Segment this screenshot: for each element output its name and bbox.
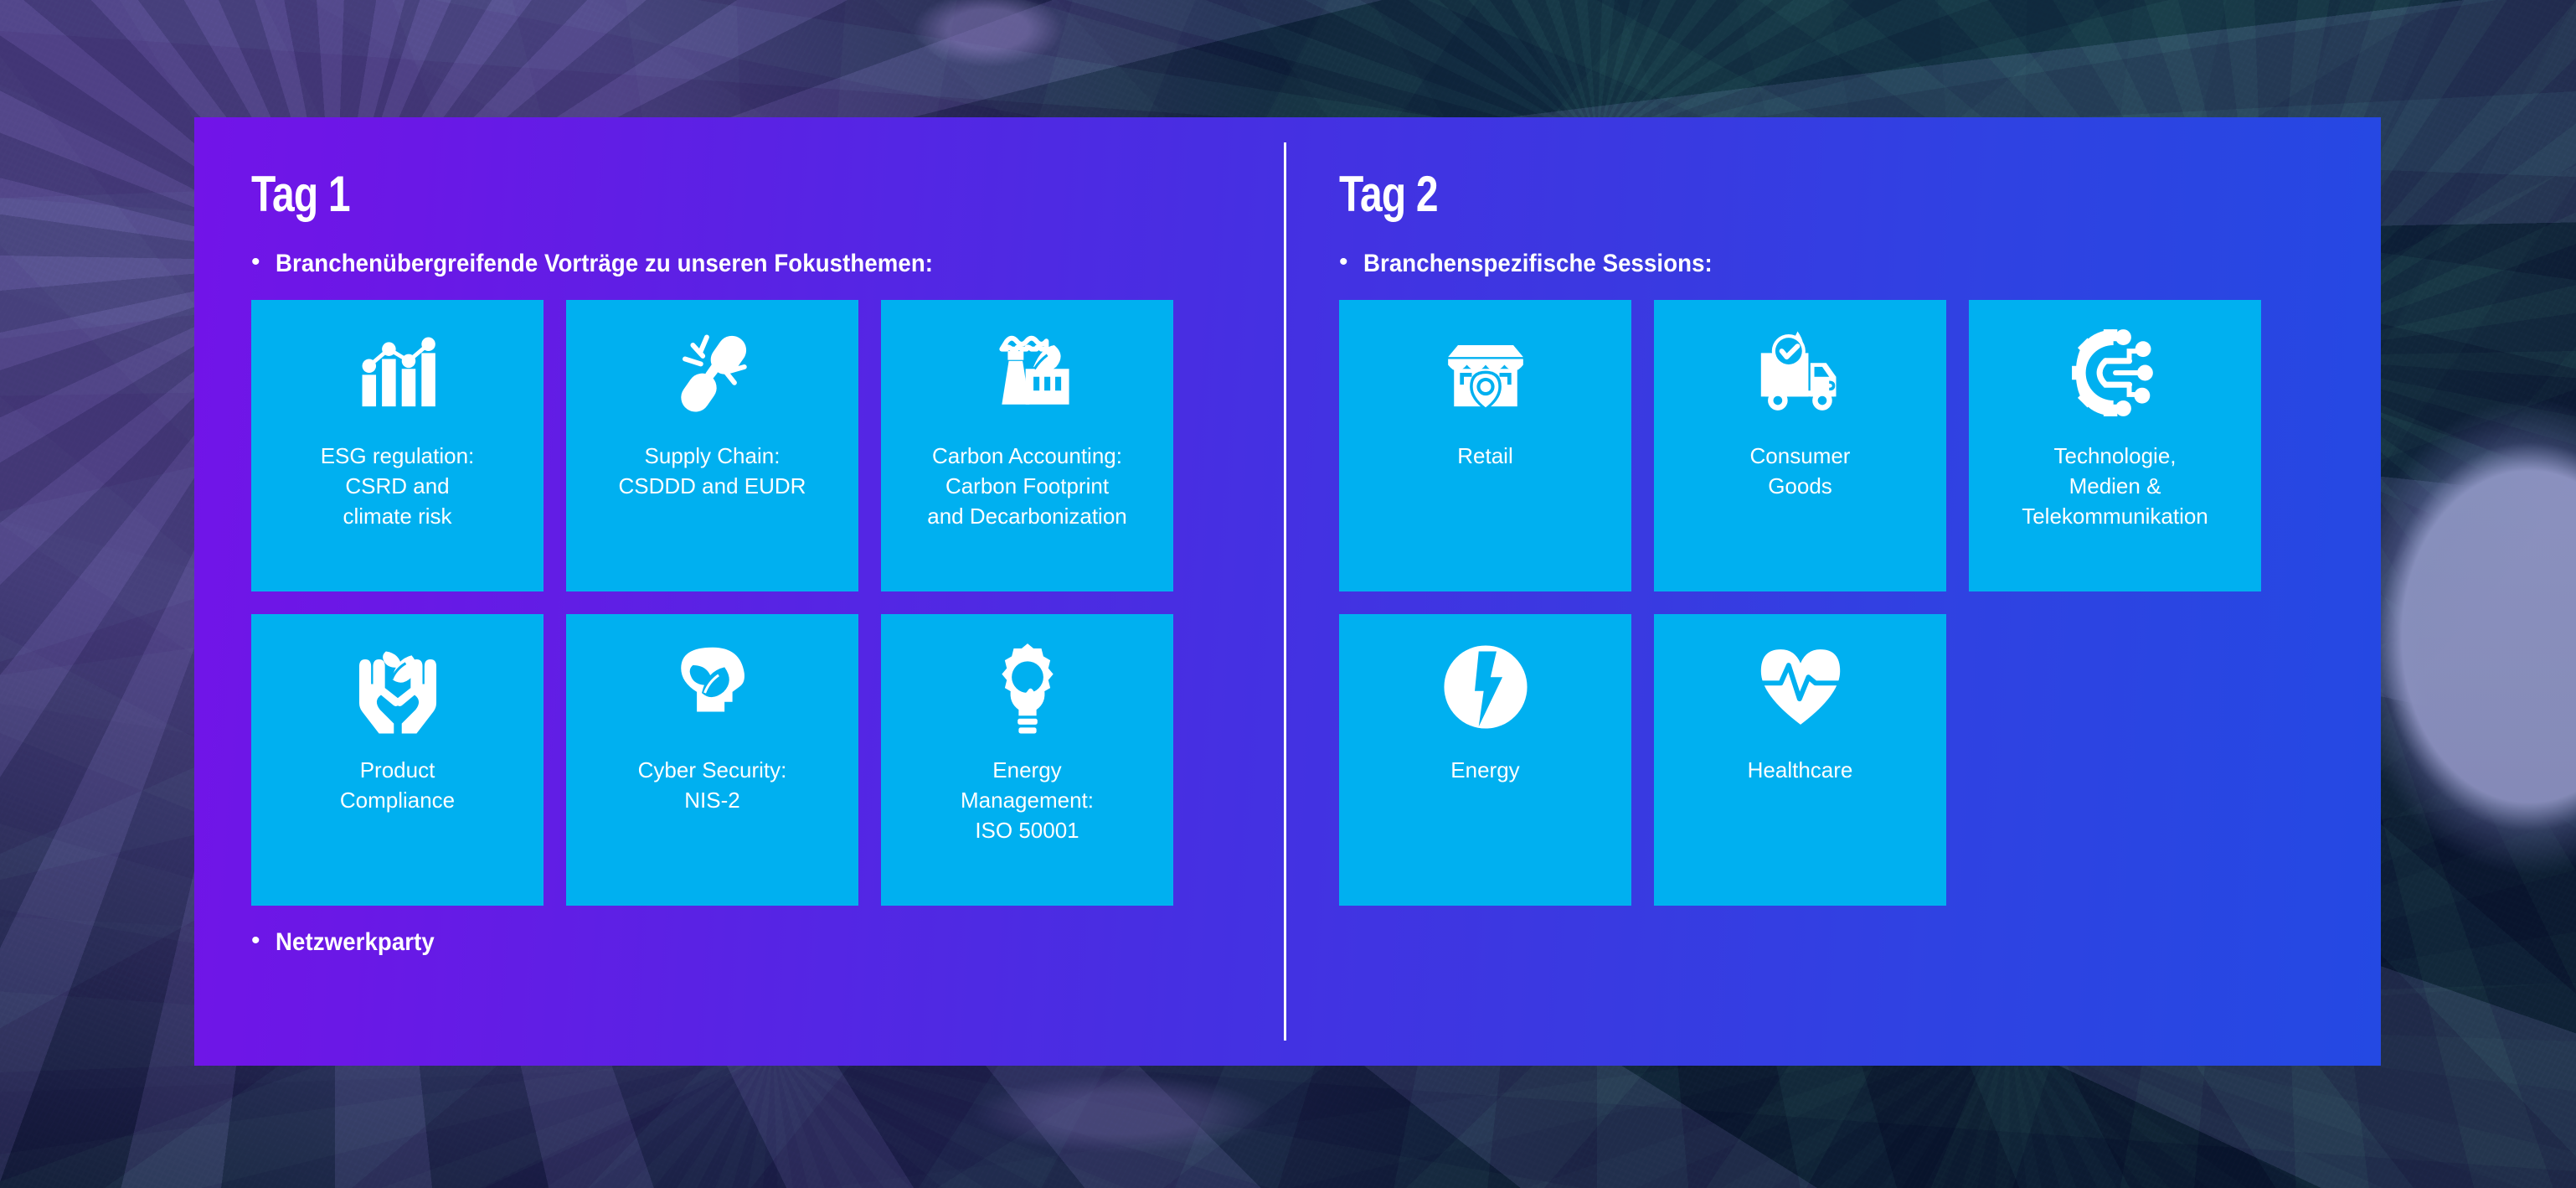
- bullet-dot-icon: •: [251, 928, 260, 953]
- storefront-location-pin-icon: [1436, 323, 1535, 422]
- tile-label: Cyber Security: NIS-2: [630, 755, 796, 815]
- tile-carbon-accounting[interactable]: Carbon Accounting: Carbon Footprint and …: [881, 300, 1173, 591]
- day1-intro-bullet: • Branchenübergreifende Vorträge zu unse…: [251, 250, 1284, 278]
- tile-technologie-medien-telekommunikation[interactable]: Technologie, Medien & Telekommunikation: [1969, 300, 2261, 591]
- tile-supply-chain[interactable]: Supply Chain: CSDDD and EUDR: [566, 300, 858, 591]
- day1-tile-row-1: ESG regulation: CSRD and climate risk: [251, 300, 1284, 591]
- factory-leaf-icon: [978, 323, 1077, 422]
- tile-label: Consumer Goods: [1742, 441, 1859, 501]
- broken-chain-link-icon: [663, 323, 762, 422]
- tile-energy-management[interactable]: Energy Management: ISO 50001: [881, 614, 1173, 906]
- day2-column: Tag 2 • Branchenspezifische Sessions:: [1284, 117, 2381, 1066]
- tile-label: Product Compliance: [332, 755, 463, 815]
- day2-intro-bullet-text: Branchenspezifische Sessions:: [1363, 250, 1713, 278]
- tile-label: Supply Chain: CSDDD and EUDR: [611, 441, 815, 501]
- tile-product-compliance[interactable]: Product Compliance: [251, 614, 544, 906]
- tile-consumer-goods[interactable]: Consumer Goods: [1654, 300, 1946, 591]
- day1-closing-bullet-text: Netzwerkparty: [276, 928, 435, 957]
- tile-healthcare[interactable]: Healthcare: [1654, 614, 1946, 906]
- day1-tile-row-2: Product Compliance Cyber Security: NIS-2: [251, 614, 1284, 906]
- bullet-dot-icon: •: [1339, 250, 1348, 275]
- day2-title: Tag 2: [1339, 169, 2172, 220]
- tile-label: Healthcare: [1739, 755, 1862, 785]
- day2-tile-row-1: Retail: [1339, 300, 2381, 591]
- day1-title: Tag 1: [251, 169, 1077, 220]
- tile-label: Carbon Accounting: Carbon Footprint and …: [919, 441, 1136, 531]
- lightbulb-gear-icon: [978, 638, 1077, 736]
- agenda-panel: Tag 1 • Branchenübergreifende Vorträge z…: [194, 117, 2381, 1066]
- tile-cyber-security[interactable]: Cyber Security: NIS-2: [566, 614, 858, 906]
- tile-label: Energy Management: ISO 50001: [952, 755, 1102, 845]
- delivery-truck-check-flame-icon: [1751, 323, 1850, 422]
- tile-label: Energy: [1442, 755, 1528, 785]
- hands-holding-leaf-icon: [348, 638, 447, 736]
- day2-intro-bullet: • Branchenspezifische Sessions:: [1339, 250, 2381, 278]
- tile-esg-regulation[interactable]: ESG regulation: CSRD and climate risk: [251, 300, 544, 591]
- tile-energy[interactable]: Energy: [1339, 614, 1631, 906]
- heart-pulse-icon: [1751, 638, 1850, 736]
- day2-tile-row-2: Energy Healthcare: [1339, 614, 2381, 906]
- tile-label: Technologie, Medien & Telekommunikation: [2013, 441, 2217, 531]
- head-profile-leaf-icon: [663, 638, 762, 736]
- tile-retail[interactable]: Retail: [1339, 300, 1631, 591]
- day1-intro-bullet-text: Branchenübergreifende Vorträge zu unsere…: [276, 250, 933, 278]
- tile-label: ESG regulation: CSRD and climate risk: [312, 441, 483, 531]
- gear-circuit-nodes-icon: [2066, 323, 2165, 422]
- lightning-bolt-circle-icon: [1436, 638, 1535, 736]
- day1-closing-bullet: • Netzwerkparty: [251, 928, 1284, 957]
- day1-column: Tag 1 • Branchenübergreifende Vorträge z…: [194, 117, 1284, 1066]
- bullet-dot-icon: •: [251, 250, 260, 275]
- bar-chart-trend-icon: [348, 323, 447, 422]
- tile-label: Retail: [1449, 441, 1521, 471]
